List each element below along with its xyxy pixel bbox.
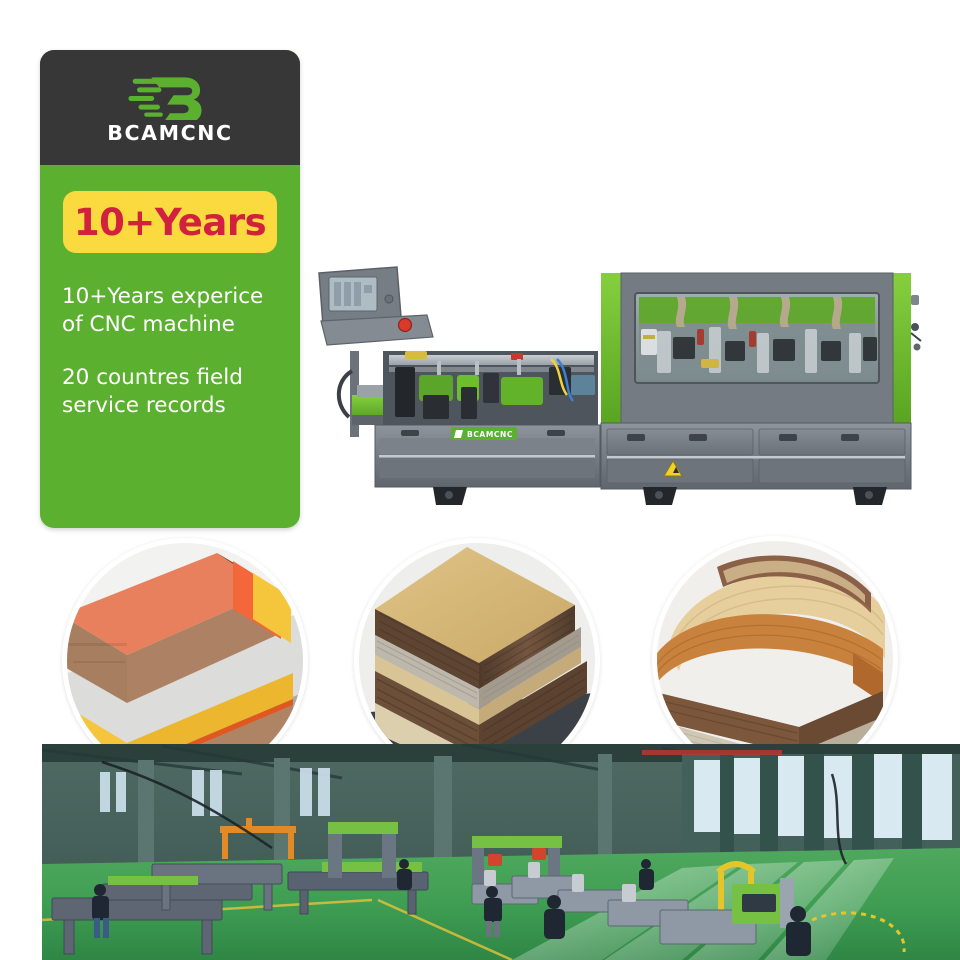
- side-adjustment-knob: [911, 295, 921, 351]
- bcamcnc-speed-b-logo-icon: [127, 72, 213, 120]
- experience-text: 10+Years experice of CNC machine: [58, 283, 282, 340]
- machine-left-section: BCAMCNC: [375, 425, 600, 487]
- machine-illustration: BCAMCNC: [305, 255, 925, 515]
- brand-wordmark: BCAMCNC: [107, 121, 232, 145]
- svg-text:BCAMCNC: BCAMCNC: [467, 430, 513, 439]
- factory-workshop-illustration: [42, 744, 960, 960]
- machine-brand-badge: BCAMCNC: [451, 427, 517, 440]
- years-badge: 10+Years: [63, 191, 277, 253]
- years-badge-label: 10+Years: [74, 201, 266, 244]
- card-body: 10+Years 10+Years experice of CNC machin…: [40, 191, 300, 421]
- machine-support-feet: [433, 487, 887, 505]
- factory-photo: [42, 744, 960, 960]
- machine-right-section: [601, 273, 921, 489]
- card-header: BCAMCNC: [40, 50, 300, 165]
- emergency-stop-button: [399, 319, 412, 332]
- service-text: 20 countres field service records: [58, 364, 282, 421]
- info-card: BCAMCNC 10+Years 10+Years experice of CN…: [40, 50, 300, 528]
- experience-line-1: 10+Years experice: [62, 283, 282, 311]
- service-line-1: 20 countres field: [62, 364, 282, 392]
- edge-banding-machine: BCAMCNC: [305, 255, 925, 515]
- processing-units-open: [383, 351, 598, 425]
- edge-banding-strip-rolls: [657, 541, 893, 777]
- service-line-2: service records: [62, 392, 282, 420]
- experience-line-2: of CNC machine: [62, 311, 282, 339]
- poster-canvas: BCAMCNC 10+Years 10+Years experice of CN…: [0, 0, 960, 960]
